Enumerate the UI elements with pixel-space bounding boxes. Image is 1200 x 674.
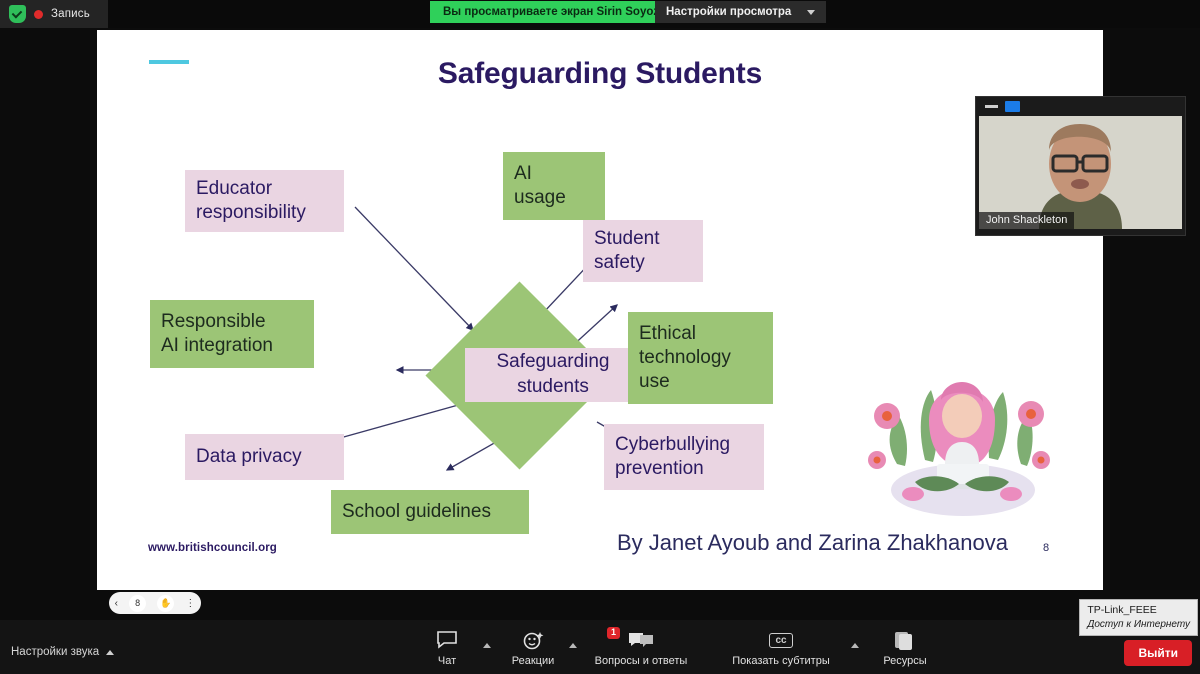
network-status-text: Доступ к Интернету: [1087, 618, 1190, 632]
reactions-button[interactable]: Реакции: [491, 628, 575, 670]
chevron-up-icon[interactable]: [106, 650, 114, 655]
center-line-2: students: [517, 375, 589, 400]
cc-icon: cc: [769, 628, 792, 652]
view-settings-label: Настройки просмотра: [666, 6, 791, 18]
person-with-laptop-illustration: [855, 368, 1067, 526]
slide-page-indicator[interactable]: 8: [129, 595, 146, 612]
chat-bubble-icon: [436, 628, 458, 652]
network-status-tooltip: TP-Link_FEEE Доступ к Интернету: [1079, 599, 1198, 636]
network-ssid: TP-Link_FEEE: [1087, 603, 1190, 617]
top-bar: Запись Вы просматриваете экран Sirin Soy…: [0, 0, 1200, 28]
left-letterbox: [0, 28, 97, 590]
audio-settings-button[interactable]: Настройки звука: [11, 646, 114, 658]
node-cyberbullying-prevention: Cyberbullyingprevention: [604, 424, 764, 490]
node-data-privacy: Data privacy: [185, 434, 344, 480]
video-window-controls: [976, 97, 1185, 116]
node-ai-usage: AIusage: [503, 152, 605, 220]
center-line-1: Safeguarding: [496, 350, 609, 375]
record-dot-icon: [34, 10, 43, 19]
zoom-meeting-window: Запись Вы просматриваете экран Sirin Soy…: [0, 0, 1200, 674]
resources-button[interactable]: Ресурсы: [859, 628, 951, 670]
qa-unread-badge: 1: [607, 627, 620, 639]
node-school-guidelines: School guidelines: [331, 490, 529, 534]
more-options-icon[interactable]: ⋮: [185, 598, 195, 609]
slide-navigation-bar[interactable]: ‹ 8 ✋ ⋮: [109, 592, 201, 614]
footer-url: www.britishcouncil.org: [148, 542, 277, 554]
screen-share-banner: Вы просматриваете экран Sirin Soyoz: [430, 1, 672, 23]
participant-video-thumbnail[interactable]: John Shackleton: [975, 96, 1186, 236]
slide-number: 8: [1043, 542, 1049, 554]
qa-button[interactable]: 1 Вопросы и ответы: [577, 628, 705, 670]
chat-button[interactable]: Чат: [405, 628, 489, 670]
pointer-hand-icon[interactable]: ✋: [157, 595, 174, 612]
captions-label: Показать субтитры: [732, 655, 830, 667]
captions-button[interactable]: cc Показать субтитры: [705, 628, 857, 670]
slide-byline: By Janet Ayoub and Zarina Zhakhanova: [617, 530, 1008, 556]
recording-label: Запись: [51, 8, 90, 20]
previous-slide-icon[interactable]: ‹: [115, 598, 118, 609]
maximize-icon[interactable]: [1005, 101, 1020, 112]
minimize-icon[interactable]: [985, 105, 998, 108]
node-educator-responsibility: Educatorresponsibility: [185, 170, 344, 232]
view-settings-button[interactable]: Настройки просмотра: [655, 1, 826, 23]
shared-slide: Safeguarding Students Safeguarding: [97, 30, 1103, 590]
smiley-reaction-icon: [522, 628, 544, 652]
center-node-label: Safeguarding students: [465, 348, 641, 402]
video-feed: John Shackleton: [979, 116, 1182, 229]
chevron-down-icon[interactable]: [807, 10, 815, 15]
node-student-safety: Studentsafety: [583, 220, 703, 282]
qa-label: Вопросы и ответы: [595, 655, 688, 667]
recording-indicator[interactable]: Запись: [0, 0, 108, 28]
security-shield-icon[interactable]: [9, 5, 26, 23]
node-responsible-ai-integration: ResponsibleAI integration: [150, 300, 314, 368]
toolbar-buttons: Чат Реакции: [405, 628, 951, 670]
resources-label: Ресурсы: [883, 655, 926, 667]
chat-label: Чат: [438, 655, 456, 667]
node-ethical-technology-use: Ethicaltechnologyuse: [628, 312, 773, 404]
resources-files-icon: [893, 628, 917, 652]
audio-settings-label: Настройки звука: [11, 646, 99, 658]
reactions-label: Реакции: [512, 655, 555, 667]
participant-name-label: John Shackleton: [979, 212, 1074, 229]
leave-meeting-button[interactable]: Выйти: [1124, 640, 1192, 666]
qa-bubbles-icon: [626, 628, 656, 652]
meeting-toolbar: Настройки звука Чат: [0, 620, 1200, 674]
